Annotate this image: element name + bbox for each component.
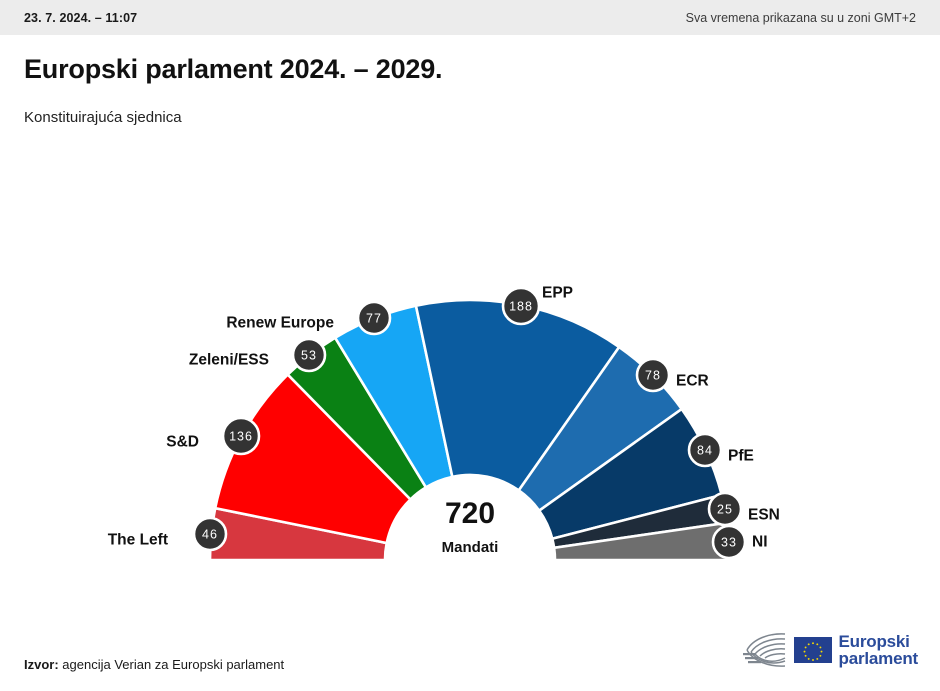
source-line: Izvor: agencija Verian za Europski parla… (24, 657, 284, 672)
logo-line-1: Europski (839, 633, 918, 650)
party-label-renew-europe: Renew Europe (226, 315, 334, 332)
center-total: 720 (445, 497, 495, 530)
european-parliament-logo: Europski parlament (739, 630, 918, 670)
party-label-ni: NI (752, 534, 768, 551)
party-label-the-left: The Left (108, 532, 168, 549)
eu-flag-icon (794, 637, 832, 663)
page-subtitle: Konstituirajuća sjednica (24, 109, 182, 126)
infographic-page: 23. 7. 2024. – 11:07 Sva vremena prikaza… (0, 0, 940, 691)
seat-count-the-left: 46 (202, 528, 218, 542)
seat-count-ni: 33 (721, 536, 737, 550)
party-label-ecr: ECR (676, 373, 709, 390)
party-label-s-d: S&D (166, 434, 199, 451)
timezone-note: Sva vremena prikazana su u zoni GMT+2 (686, 11, 916, 25)
top-utility-bar: 23. 7. 2024. – 11:07 Sva vremena prikaza… (0, 0, 940, 35)
hemicycle-svg: 46The Left136S&D53Zeleni/ESS77Renew Euro… (0, 150, 940, 590)
seat-count-esn: 25 (717, 503, 733, 517)
hemicycle-chart: 46The Left136S&D53Zeleni/ESS77Renew Euro… (0, 150, 940, 590)
seat-count-pfe: 84 (697, 444, 713, 458)
seat-count-zeleni-ess: 53 (301, 349, 317, 363)
logo-line-2: parlament (839, 650, 918, 667)
center-caption: Mandati (442, 539, 499, 556)
parliament-hemicycle-icon (739, 630, 787, 670)
party-label-pfe: PfE (728, 448, 754, 465)
seat-count-epp: 188 (509, 300, 533, 314)
timestamp: 23. 7. 2024. – 11:07 (24, 11, 137, 25)
seat-count-ecr: 78 (645, 369, 661, 383)
source-label: Izvor: (24, 657, 59, 672)
page-title: Europski parlament 2024. – 2029. (24, 54, 442, 85)
seat-count-s-d: 136 (229, 430, 253, 444)
party-label-esn: ESN (748, 507, 780, 524)
logo-wordmark: Europski parlament (839, 633, 918, 668)
party-label-zeleni-ess: Zeleni/ESS (189, 352, 269, 369)
source-text: agencija Verian za Europski parlament (59, 657, 284, 672)
seat-count-renew-europe: 77 (366, 312, 382, 326)
party-label-epp: EPP (542, 285, 573, 302)
